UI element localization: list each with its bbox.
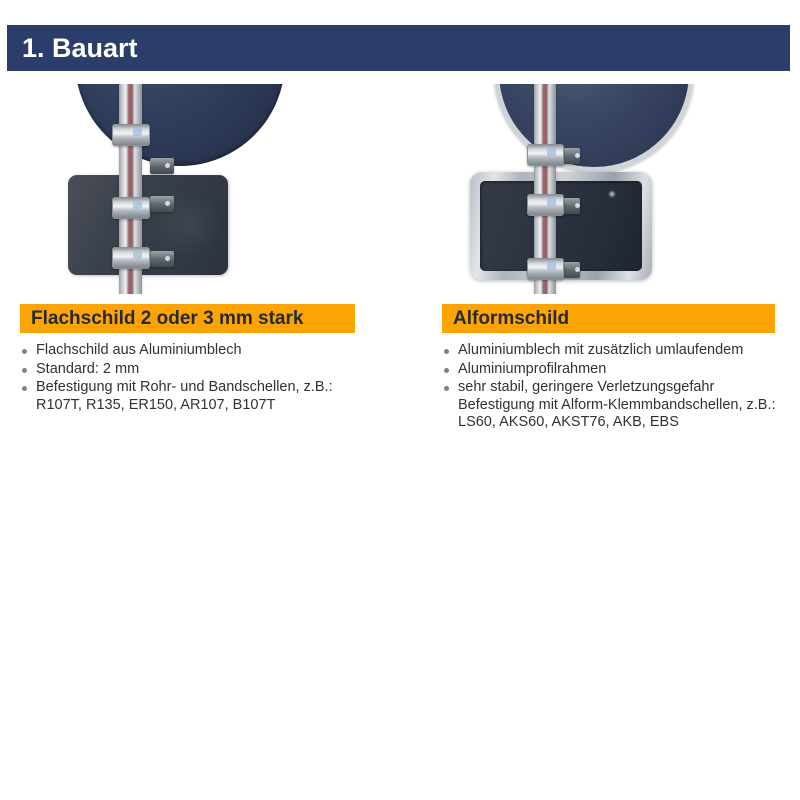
list-item: Aluminiumprofilrahmen bbox=[442, 361, 790, 379]
list-item-continuation: Befestigung mit Alform-Klemmbandschellen… bbox=[458, 397, 790, 432]
list-item: Befestigung mit Rohr- und Bandschellen, … bbox=[20, 379, 390, 414]
feature-list-flachschild: Flachschild aus Aluminiumblech Standard:… bbox=[20, 342, 390, 414]
page-title: 1. Bauart bbox=[7, 35, 138, 62]
clamp-highlight-icon bbox=[547, 148, 556, 156]
alform-clamp-graphic bbox=[527, 258, 564, 280]
round-sign-graphic bbox=[494, 84, 694, 172]
section-heading-label: Alformschild bbox=[442, 309, 569, 328]
list-item-text: Flachschild aus Aluminiumblech bbox=[36, 342, 242, 358]
alform-clamp-graphic bbox=[527, 194, 564, 216]
band-clamp-graphic bbox=[112, 247, 150, 269]
clamp-highlight-icon bbox=[133, 251, 142, 259]
list-item: Flachschild aus Aluminiumblech bbox=[20, 342, 390, 360]
list-item-text: Aluminiumblech mit zusätzlich umlaufende… bbox=[458, 342, 743, 358]
column-alformschild: Alformschild Aluminiumblech mit zusätzli… bbox=[442, 84, 790, 433]
clamp-highlight-icon bbox=[133, 128, 142, 136]
list-item: sehr stabil, geringere Verletzungsgefahr… bbox=[442, 379, 790, 432]
product-image-flachschild bbox=[20, 84, 390, 294]
list-item-text: Standard: 2 mm bbox=[36, 361, 139, 377]
bracket-tab-icon bbox=[150, 158, 174, 174]
round-sign-graphic bbox=[75, 84, 285, 166]
section-heading-label: Flachschild 2 oder 3 mm stark bbox=[20, 309, 303, 328]
alform-clamp-graphic bbox=[527, 144, 564, 166]
list-item: Aluminiumblech mit zusätzlich umlaufende… bbox=[442, 342, 790, 360]
list-item-text: Befestigung mit Rohr- und Bandschellen, … bbox=[36, 379, 333, 395]
band-clamp-graphic bbox=[112, 197, 150, 219]
section-header-bar: 1. Bauart bbox=[7, 25, 790, 71]
list-item: Standard: 2 mm bbox=[20, 361, 390, 379]
product-image-alformschild bbox=[442, 84, 790, 294]
column-flachschild: Flachschild 2 oder 3 mm stark Flachschil… bbox=[20, 84, 390, 415]
list-item-text: sehr stabil, geringere Verletzungsgefahr bbox=[458, 379, 714, 395]
feature-list-alformschild: Aluminiumblech mit zusätzlich umlaufende… bbox=[442, 342, 790, 432]
band-clamp-graphic bbox=[112, 124, 150, 146]
list-item-continuation: R107T, R135, ER150, AR107, B107T bbox=[36, 397, 390, 415]
bracket-tab-icon bbox=[150, 251, 174, 267]
bracket-tab-icon bbox=[150, 196, 174, 212]
clamp-highlight-icon bbox=[547, 262, 556, 270]
list-item-text: Aluminiumprofilrahmen bbox=[458, 361, 606, 377]
section-heading-flachschild: Flachschild 2 oder 3 mm stark bbox=[20, 304, 355, 333]
clamp-highlight-icon bbox=[133, 201, 142, 209]
section-heading-alformschild: Alformschild bbox=[442, 304, 775, 333]
clamp-highlight-icon bbox=[547, 198, 556, 206]
